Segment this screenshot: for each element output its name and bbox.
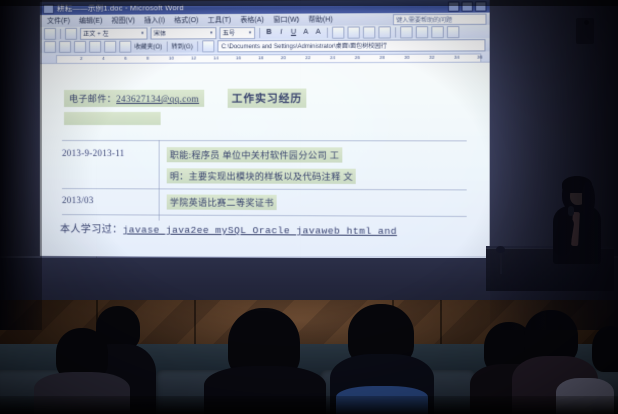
font-color-icon[interactable]: A [301, 29, 310, 36]
projected-word-window: 耕耘——示例1.doc - Microsoft Word 文件(F) 编辑(E)… [40, 0, 490, 259]
align-right-icon[interactable] [363, 26, 375, 38]
menu-item-tools[interactable]: 工具(T) [208, 15, 231, 25]
ruler-tick: 18 [258, 55, 263, 60]
ruler-tick: 6 [124, 56, 127, 61]
forward-icon[interactable] [59, 40, 71, 52]
align-center-icon[interactable] [347, 26, 359, 38]
bullet-list-icon[interactable] [416, 26, 428, 38]
menu-item-table[interactable]: 表格(A) [240, 15, 264, 25]
table-border-bottom [62, 214, 467, 217]
experience-line-2: 明：主要实现出模块的样板以及代码注释 文 [167, 168, 356, 184]
font-value: 宋体 [154, 28, 167, 37]
borders-icon[interactable] [447, 25, 459, 37]
floor-shadow [0, 396, 618, 414]
ruler-tick: 20 [281, 55, 286, 60]
redacted-highlight-box [64, 112, 161, 125]
ruler-tick: 36 [477, 55, 482, 60]
ruler-tick: 28 [379, 55, 384, 60]
menu-item-window[interactable]: 窗口(W) [273, 15, 299, 25]
web-separator-2 [197, 41, 198, 51]
bold-icon[interactable]: B [264, 29, 273, 36]
menu-item-view[interactable]: 视图(V) [112, 15, 136, 25]
font-dropdown[interactable]: 宋体 ▾ [151, 27, 217, 39]
certificate-line: 学院英语比赛二等奖证书 [167, 194, 277, 210]
ruler-tick: 2 [80, 56, 83, 61]
ruler-tick: 4 [102, 56, 105, 61]
favorites-button[interactable]: 收藏夹(O) [134, 42, 162, 51]
format-painter-icon[interactable] [65, 27, 77, 39]
email-label: 电子邮件： [69, 94, 116, 104]
email-value: 243627134@qq.com [116, 94, 199, 104]
document-page[interactable]: 电子邮件：243627134@qq.com 工作实习经历 2013-9-2013… [40, 63, 490, 259]
font-size-value: 五号 [223, 28, 236, 37]
document-icon[interactable] [202, 40, 214, 52]
menu-item-format[interactable]: 格式(O) [174, 15, 198, 25]
help-search-input[interactable]: 键入需要帮助的问题 [393, 14, 487, 26]
formatting-toolbar[interactable]: 正文 + 左 ▾ 宋体 ▾ 五号 ▾ B I U A A [40, 25, 490, 40]
menu-bar[interactable]: 文件(F) 编辑(E) 视图(V) 插入(I) 格式(O) 工具(T) 表格(A… [40, 13, 490, 27]
toolbar-separator-1 [60, 28, 61, 38]
address-input[interactable]: C:\Documents and Settings\Administrator\… [217, 39, 485, 52]
experience-line-1: 职能:程序员 单位中关村软件园分公司 工 [167, 147, 343, 162]
underline-icon[interactable]: U [289, 29, 298, 36]
ruler-tick: 30 [404, 55, 409, 60]
menu-item-file[interactable]: 文件(F) [47, 16, 70, 26]
ruler-tick: 26 [355, 55, 360, 60]
toolbar-separator-2 [259, 27, 260, 37]
experience-date-2: 2013/03 [62, 195, 94, 205]
word-application-window: 耕耘——示例1.doc - Microsoft Word 文件(F) 编辑(E)… [40, 0, 490, 259]
refresh-icon[interactable] [89, 40, 101, 52]
toolbar-separator-3 [327, 27, 328, 37]
ruler-tick: 34 [454, 55, 459, 60]
experience-date-1: 2013-9-2013-11 [62, 148, 125, 158]
ruler-tick: 22 [305, 55, 310, 60]
toolbar-separator-4 [395, 27, 396, 37]
chevron-down-icon[interactable]: ▾ [139, 30, 145, 36]
chevron-down-icon[interactable]: ▾ [208, 30, 214, 36]
table-border-top [62, 140, 467, 141]
search-icon[interactable] [119, 40, 131, 52]
skills-row: 本人学习过：javase java2ee mySQL Oracle javawe… [60, 220, 397, 237]
highlight-icon[interactable]: A [314, 29, 323, 36]
ruler-tick: 16 [236, 55, 241, 60]
lecture-hall-photo: 耕耘——示例1.doc - Microsoft Word 文件(F) 编辑(E)… [0, 0, 618, 414]
section-heading: 工作实习经历 [228, 89, 307, 108]
ruler-tick: 8 [146, 56, 149, 61]
ruler-tick: 10 [169, 56, 174, 61]
email-row: 电子邮件：243627134@qq.com [64, 90, 204, 107]
skills-label: 本人学习过： [60, 224, 123, 235]
indent-icon[interactable] [431, 26, 443, 38]
font-size-dropdown[interactable]: 五号 ▾ [219, 26, 255, 38]
ruler-tick: 14 [213, 55, 218, 60]
style-dropdown[interactable]: 正文 + 左 ▾ [80, 27, 147, 39]
menu-item-insert[interactable]: 插入(I) [144, 15, 165, 25]
ruler-tick: 32 [429, 55, 434, 60]
back-icon[interactable] [44, 40, 56, 52]
ruler-tick: 24 [330, 55, 335, 60]
go-button[interactable]: 转到(G) [171, 41, 193, 50]
style-value: 正文 + 左 [83, 29, 109, 38]
audience-head [592, 326, 618, 372]
skills-value: javase java2ee mySQL Oracle javaweb html… [123, 224, 397, 237]
home-icon[interactable] [104, 40, 116, 52]
left-shadow [0, 0, 42, 330]
stop-icon[interactable] [74, 40, 86, 52]
menu-item-edit[interactable]: 编辑(E) [79, 16, 102, 26]
web-separator-1 [166, 41, 167, 51]
table-border-vertical [159, 140, 160, 220]
table-border-mid [62, 188, 467, 190]
numbered-list-icon[interactable] [400, 26, 412, 38]
right-shadow [490, 0, 618, 330]
italic-icon[interactable]: I [277, 29, 286, 36]
menu-item-help[interactable]: 帮助(H) [308, 14, 332, 24]
chevron-down-icon[interactable]: ▾ [247, 30, 253, 36]
align-justify-icon[interactable] [378, 26, 390, 38]
top-shadow [0, 0, 618, 6]
save-icon[interactable] [44, 27, 56, 39]
ruler-tick: 12 [191, 55, 196, 60]
align-left-icon[interactable] [332, 26, 344, 38]
